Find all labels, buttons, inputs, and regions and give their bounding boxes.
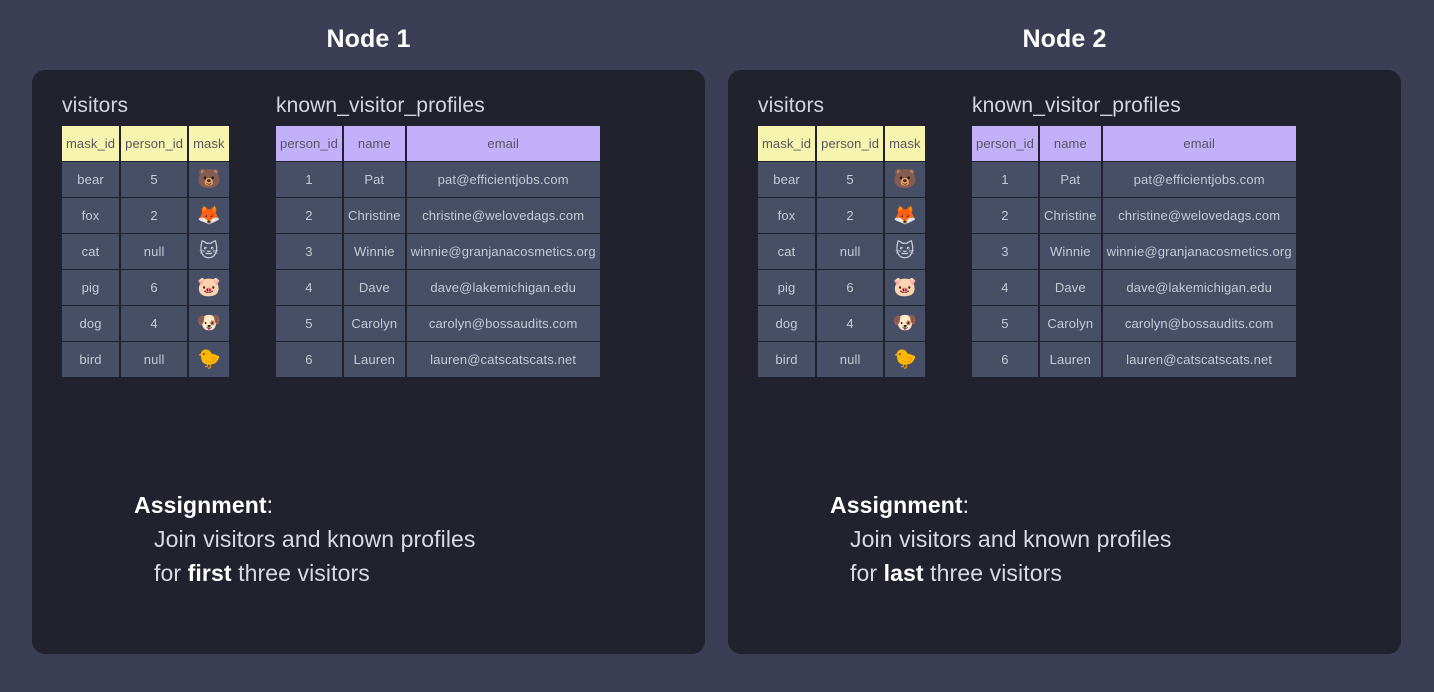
cell-mask-id: bear xyxy=(62,162,119,197)
node-card-2: visitors mask_id person_id mask bear xyxy=(728,70,1401,654)
table-row: 3 Winnie winnie@granjanacosmetics.org xyxy=(276,234,600,269)
assignment-line-1: Join visitors and known profiles xyxy=(830,522,1370,556)
cell-person-id: 4 xyxy=(817,306,883,341)
cell-mask-id: fox xyxy=(758,198,815,233)
column-header-name: name xyxy=(344,126,405,161)
pig-icon: 🐷 xyxy=(885,270,924,305)
cell-person-id: 2 xyxy=(276,198,342,233)
column-header-email: email xyxy=(407,126,600,161)
cell-email: pat@efficientjobs.com xyxy=(407,162,600,197)
cell-person-id: null xyxy=(121,234,187,269)
table-row: 2 Christine christine@welovedags.com xyxy=(276,198,600,233)
table-row: 6 Lauren lauren@catscatscats.net xyxy=(276,342,600,377)
cell-person-id: 4 xyxy=(276,270,342,305)
cell-person-id: 5 xyxy=(276,306,342,341)
cell-email: pat@efficientjobs.com xyxy=(1103,162,1296,197)
dog-icon: 🐶 xyxy=(885,306,924,341)
cell-person-id: 5 xyxy=(817,162,883,197)
cell-email: dave@lakemichigan.edu xyxy=(1103,270,1296,305)
cell-person-id: null xyxy=(817,342,883,377)
visitors-table-2: mask_id person_id mask bear 5 🐻 xyxy=(756,125,927,378)
cell-mask-id: pig xyxy=(758,270,815,305)
cat-icon: 🐱 xyxy=(885,234,924,269)
cell-person-id: null xyxy=(817,234,883,269)
table-row: 5 Carolyn carolyn@bossaudits.com xyxy=(276,306,600,341)
node-panel-2: Node 2 visitors mask_id person_id mask xyxy=(728,0,1401,692)
cell-name: Winnie xyxy=(1040,234,1101,269)
table-row: fox 2 🦊 xyxy=(62,198,229,233)
column-header-mask: mask xyxy=(189,126,228,161)
dog-icon: 🐶 xyxy=(189,306,228,341)
table-header-row: person_id name email xyxy=(972,126,1296,161)
bear-icon: 🐻 xyxy=(189,162,228,197)
node-card-1: visitors mask_id person_id mask bear xyxy=(32,70,705,654)
cell-name: Carolyn xyxy=(1040,306,1101,341)
cell-name: Christine xyxy=(1040,198,1101,233)
assignment-line-2: for last three visitors xyxy=(830,556,1370,590)
column-header-email: email xyxy=(1103,126,1296,161)
cell-name: Winnie xyxy=(344,234,405,269)
cell-email: christine@welovedags.com xyxy=(1103,198,1296,233)
cell-email: dave@lakemichigan.edu xyxy=(407,270,600,305)
node-panel-1: Node 1 visitors mask_id person_id mask xyxy=(32,0,705,692)
cell-mask-id: cat xyxy=(62,234,119,269)
table-row: 6 Lauren lauren@catscatscats.net xyxy=(972,342,1296,377)
table-row: 1 Pat pat@efficientjobs.com xyxy=(276,162,600,197)
cell-name: Christine xyxy=(344,198,405,233)
assignment-label: Assignment xyxy=(830,492,963,518)
cell-email: lauren@catscatscats.net xyxy=(407,342,600,377)
cell-name: Lauren xyxy=(1040,342,1101,377)
bird-icon: 🐤 xyxy=(189,342,228,377)
assignment-heading-2: Assignment: xyxy=(830,488,1370,522)
assignment-label: Assignment xyxy=(134,492,267,518)
cell-email: carolyn@bossaudits.com xyxy=(1103,306,1296,341)
table-row: 1 Pat pat@efficientjobs.com xyxy=(972,162,1296,197)
table-row: fox 2 🦊 xyxy=(758,198,925,233)
cell-mask-id: pig xyxy=(62,270,119,305)
cell-email: winnie@granjanacosmetics.org xyxy=(1103,234,1296,269)
fox-icon: 🦊 xyxy=(189,198,228,233)
assignment-heading-1: Assignment: xyxy=(134,488,674,522)
assignment-block-2: Assignment: Join visitors and known prof… xyxy=(830,488,1370,590)
assignment-line2-prefix: for xyxy=(850,560,884,586)
assignment-line2-suffix: three visitors xyxy=(924,560,1062,586)
table-header-row: person_id name email xyxy=(276,126,600,161)
cell-person-id: 2 xyxy=(121,198,187,233)
visitors-table-1: mask_id person_id mask bear 5 🐻 xyxy=(60,125,231,378)
profiles-table-2: person_id name email 1 Pat pat@efficient… xyxy=(970,125,1298,378)
cell-mask-id: bird xyxy=(758,342,815,377)
cell-person-id: 4 xyxy=(972,270,1038,305)
cell-mask-id: fox xyxy=(62,198,119,233)
table-row: pig 6 🐷 xyxy=(62,270,229,305)
profiles-table-1: person_id name email 1 Pat pat@efficient… xyxy=(274,125,602,378)
cell-person-id: 6 xyxy=(276,342,342,377)
table-row: pig 6 🐷 xyxy=(758,270,925,305)
table-header-row: mask_id person_id mask xyxy=(758,126,925,161)
table-row: dog 4 🐶 xyxy=(758,306,925,341)
assignment-line2-emphasis: last xyxy=(884,560,924,586)
fox-icon: 🦊 xyxy=(885,198,924,233)
cell-name: Dave xyxy=(1040,270,1101,305)
cat-icon: 🐱 xyxy=(189,234,228,269)
column-header-person-id: person_id xyxy=(276,126,342,161)
profiles-table-caption-1: known_visitor_profiles xyxy=(276,94,602,118)
node-title-1: Node 1 xyxy=(32,0,705,54)
table-header-row: mask_id person_id mask xyxy=(62,126,229,161)
table-row: 3 Winnie winnie@granjanacosmetics.org xyxy=(972,234,1296,269)
cell-mask-id: bear xyxy=(758,162,815,197)
node-title-2: Node 2 xyxy=(728,0,1401,54)
cell-name: Lauren xyxy=(344,342,405,377)
pig-icon: 🐷 xyxy=(189,270,228,305)
table-row: bear 5 🐻 xyxy=(62,162,229,197)
bird-icon: 🐤 xyxy=(885,342,924,377)
assignment-colon: : xyxy=(267,492,274,518)
cell-email: christine@welovedags.com xyxy=(407,198,600,233)
profiles-table-block-1: known_visitor_profiles person_id name em… xyxy=(276,94,602,378)
cell-mask-id: dog xyxy=(758,306,815,341)
cell-person-id: 2 xyxy=(972,198,1038,233)
visitors-table-caption-2: visitors xyxy=(758,94,927,118)
table-row: 4 Dave dave@lakemichigan.edu xyxy=(972,270,1296,305)
cell-mask-id: dog xyxy=(62,306,119,341)
table-row: bird null 🐤 xyxy=(62,342,229,377)
column-header-person-id: person_id xyxy=(972,126,1038,161)
cell-person-id: 6 xyxy=(972,342,1038,377)
bear-icon: 🐻 xyxy=(885,162,924,197)
visitors-table-block-1: visitors mask_id person_id mask bear xyxy=(62,94,231,378)
table-row: bird null 🐤 xyxy=(758,342,925,377)
cell-person-id: 5 xyxy=(972,306,1038,341)
column-header-person-id: person_id xyxy=(121,126,187,161)
visitors-table-caption-1: visitors xyxy=(62,94,231,118)
cell-email: winnie@granjanacosmetics.org xyxy=(407,234,600,269)
cell-person-id: 3 xyxy=(972,234,1038,269)
cell-mask-id: bird xyxy=(62,342,119,377)
column-header-name: name xyxy=(1040,126,1101,161)
profiles-table-caption-2: known_visitor_profiles xyxy=(972,94,1298,118)
cell-person-id: 3 xyxy=(276,234,342,269)
cell-person-id: 4 xyxy=(121,306,187,341)
cell-person-id: 1 xyxy=(276,162,342,197)
column-header-mask-id: mask_id xyxy=(758,126,815,161)
cell-mask-id: cat xyxy=(758,234,815,269)
table-row: cat null 🐱 xyxy=(758,234,925,269)
cell-name: Pat xyxy=(1040,162,1101,197)
cell-name: Pat xyxy=(344,162,405,197)
cell-name: Dave xyxy=(344,270,405,305)
table-row: dog 4 🐶 xyxy=(62,306,229,341)
diagram-canvas: Node 1 visitors mask_id person_id mask xyxy=(0,0,1434,692)
cell-person-id: 2 xyxy=(817,198,883,233)
table-row: 4 Dave dave@lakemichigan.edu xyxy=(276,270,600,305)
cell-name: Carolyn xyxy=(344,306,405,341)
table-row: 2 Christine christine@welovedags.com xyxy=(972,198,1296,233)
assignment-block-1: Assignment: Join visitors and known prof… xyxy=(134,488,674,590)
column-header-mask: mask xyxy=(885,126,924,161)
assignment-colon: : xyxy=(963,492,970,518)
assignment-line-2: for first three visitors xyxy=(134,556,674,590)
assignment-line2-emphasis: first xyxy=(188,560,232,586)
cell-email: lauren@catscatscats.net xyxy=(1103,342,1296,377)
column-header-person-id: person_id xyxy=(817,126,883,161)
table-row: cat null 🐱 xyxy=(62,234,229,269)
assignment-line2-prefix: for xyxy=(154,560,188,586)
assignment-line-1: Join visitors and known profiles xyxy=(134,522,674,556)
profiles-table-block-2: known_visitor_profiles person_id name em… xyxy=(972,94,1298,378)
cell-email: carolyn@bossaudits.com xyxy=(407,306,600,341)
visitors-table-block-2: visitors mask_id person_id mask bear xyxy=(758,94,927,378)
cell-person-id: 5 xyxy=(121,162,187,197)
table-row: 5 Carolyn carolyn@bossaudits.com xyxy=(972,306,1296,341)
cell-person-id: 6 xyxy=(817,270,883,305)
cell-person-id: null xyxy=(121,342,187,377)
table-row: bear 5 🐻 xyxy=(758,162,925,197)
column-header-mask-id: mask_id xyxy=(62,126,119,161)
assignment-line2-suffix: three visitors xyxy=(232,560,370,586)
cell-person-id: 6 xyxy=(121,270,187,305)
cell-person-id: 1 xyxy=(972,162,1038,197)
